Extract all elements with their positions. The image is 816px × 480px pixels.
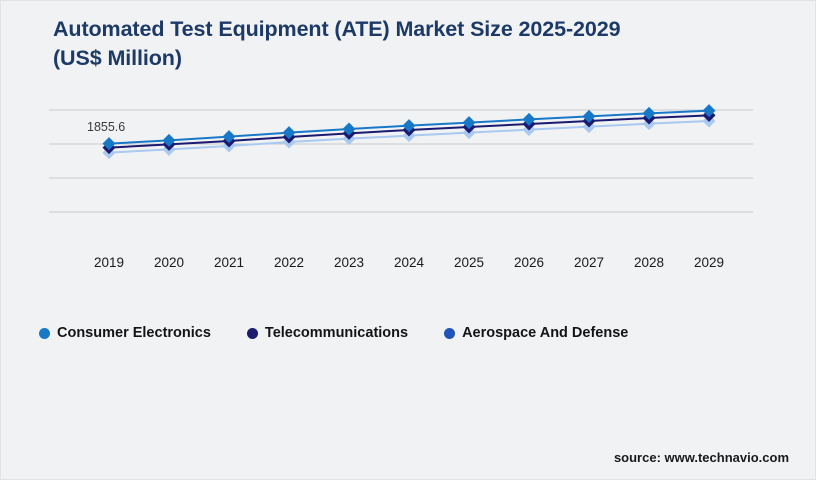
data-label-1855-6: 1855.6	[87, 120, 125, 134]
legend-item-label: Telecommunications	[265, 325, 408, 341]
x-axis-tick-label: 2025	[439, 255, 499, 270]
x-axis-tick-label: 2029	[679, 255, 739, 270]
legend-item-label: Aerospace And Defense	[462, 325, 628, 341]
x-axis-tick-label: 2022	[259, 255, 319, 270]
series-markers-group	[103, 104, 716, 159]
chart-legend: Consumer ElectronicsTelecommunicationsAe…	[39, 325, 664, 341]
x-axis-tick-label: 2028	[619, 255, 679, 270]
chart-page: Automated Test Equipment (ATE) Market Si…	[0, 0, 816, 480]
legend-item[interactable]: Telecommunications	[247, 325, 408, 341]
x-axis-tick-label: 2026	[499, 255, 559, 270]
x-axis-tick-label: 2019	[79, 255, 139, 270]
legend-item-label: Consumer Electronics	[57, 325, 211, 341]
circle-icon	[247, 328, 258, 339]
x-axis-tick-label: 2023	[319, 255, 379, 270]
legend-item[interactable]: Aerospace And Defense	[444, 325, 628, 341]
x-axis-tick-label: 2020	[139, 255, 199, 270]
circle-icon	[39, 328, 50, 339]
circle-icon	[444, 328, 455, 339]
legend-item[interactable]: Consumer Electronics	[39, 325, 211, 341]
x-axis-tick-label: 2024	[379, 255, 439, 270]
chart-plot-area: 1855.6 201920202021202220232024202520262…	[1, 1, 816, 301]
x-axis-tick-label: 2027	[559, 255, 619, 270]
x-axis-tick-label: 2021	[199, 255, 259, 270]
source-attribution: source: www.technavio.com	[614, 450, 789, 465]
